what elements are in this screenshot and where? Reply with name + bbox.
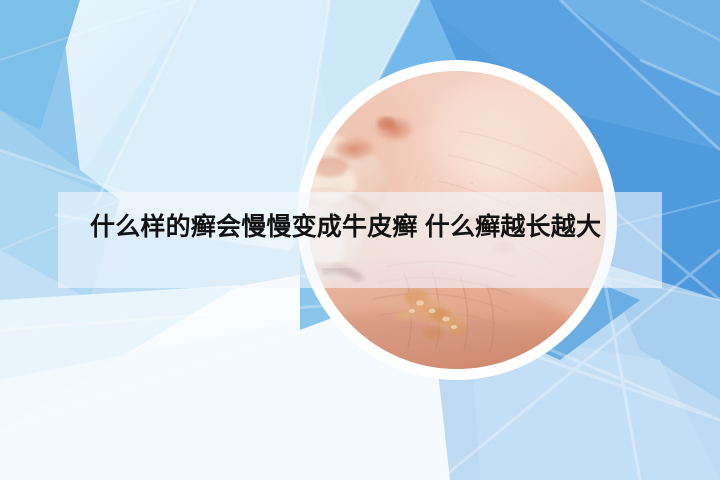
- page-title: 什么样的癣会慢慢变成牛皮癣 什么癣越长越大: [90, 210, 650, 244]
- image-canvas: 什么样的癣会慢慢变成牛皮癣 什么癣越长越大: [0, 0, 720, 480]
